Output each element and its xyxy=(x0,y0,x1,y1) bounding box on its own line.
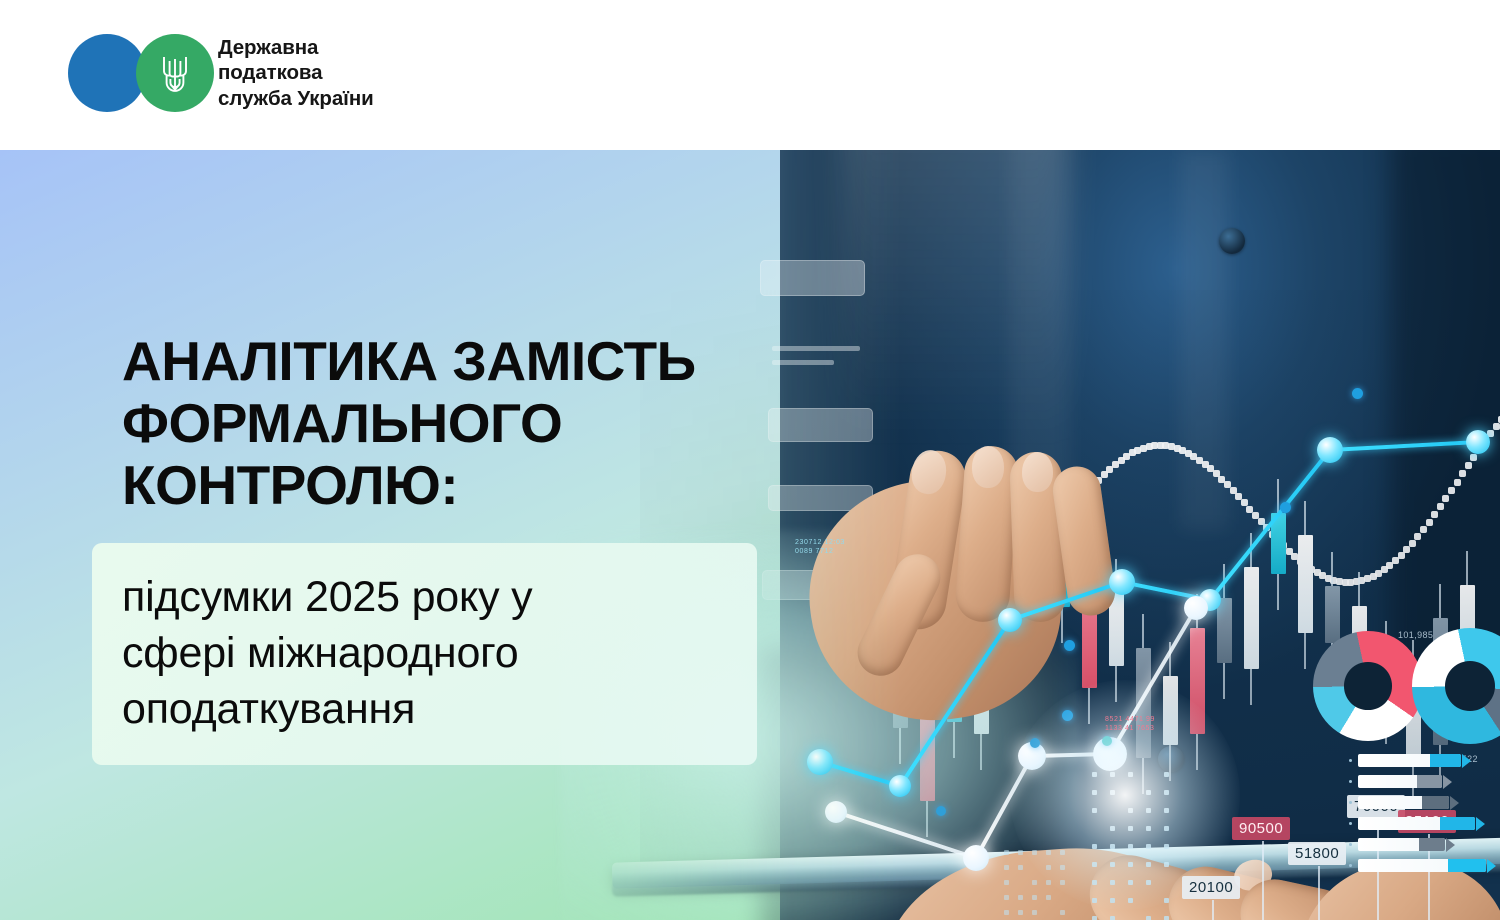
bar-fill xyxy=(1422,796,1449,809)
matrix-dot xyxy=(1018,895,1023,900)
line-node xyxy=(889,775,911,797)
bar-arrow xyxy=(1487,859,1496,873)
tiny-data-text: 8521 4471 99 1133 41 7653 xyxy=(1105,715,1155,733)
logo[interactable]: Державна податкова служба України xyxy=(68,34,374,112)
matrix-dot xyxy=(1046,895,1051,900)
matrix-dot xyxy=(1004,880,1009,885)
bar-bullet xyxy=(1349,801,1352,804)
matrix-dot xyxy=(1018,910,1023,915)
bar-bullet xyxy=(1349,843,1352,846)
tiny-data-text: 230712 12:03 0089 7712 xyxy=(795,538,845,556)
value-stem xyxy=(1212,900,1214,920)
line-node xyxy=(807,749,833,775)
line-node-small xyxy=(936,806,946,816)
value-label: 20100 xyxy=(1182,876,1240,899)
bar-arrow xyxy=(1446,838,1455,852)
matrix-dot xyxy=(1018,865,1023,870)
matrix-dot xyxy=(1032,880,1037,885)
photo-content: 2010090500518007000085100 101,98599,522 … xyxy=(0,150,1500,920)
value-stem xyxy=(1262,841,1264,920)
poster-root: 2010090500518007000085100 101,98599,522 … xyxy=(0,0,1500,920)
line-node xyxy=(1109,569,1135,595)
matrix-dot xyxy=(1004,910,1009,915)
value-label: 51800 xyxy=(1288,842,1346,865)
matrix-dot xyxy=(1164,916,1169,920)
line-node xyxy=(825,801,847,823)
donut-annotation: 101,985 xyxy=(1398,630,1433,640)
matrix-dot xyxy=(1032,895,1037,900)
line-node-small xyxy=(1352,388,1363,399)
bar-fill xyxy=(1448,859,1487,872)
fingernail xyxy=(1022,452,1053,492)
line-node xyxy=(1317,437,1343,463)
value-label: 90500 xyxy=(1232,817,1290,840)
bar-arrow xyxy=(1450,796,1459,810)
matrix-dot xyxy=(1004,850,1009,855)
matrix-dot xyxy=(1146,916,1151,920)
bar-bullet xyxy=(1349,759,1352,762)
bar-bullet xyxy=(1349,780,1352,783)
bar-fill xyxy=(1417,775,1442,788)
logo-text: Державна податкова служба України xyxy=(218,35,374,112)
bar-arrow xyxy=(1462,754,1471,768)
value-stem xyxy=(1318,866,1320,920)
donut-hole xyxy=(1445,661,1495,711)
line-node-small xyxy=(1064,640,1075,651)
matrix-dot xyxy=(1110,916,1115,920)
bar-arrow xyxy=(1443,775,1452,789)
donut-hole xyxy=(1344,662,1391,709)
subtitle-text: підсумки 2025 року у сфері міжнародного … xyxy=(92,570,562,738)
bar-fill xyxy=(1419,838,1445,851)
line-node xyxy=(1466,430,1490,454)
subtitle-panel: підсумки 2025 року у сфері міжнародного … xyxy=(92,543,757,765)
bar-fill xyxy=(1430,754,1461,767)
matrix-dot xyxy=(1032,910,1037,915)
bar-bullet xyxy=(1349,822,1352,825)
blue-circle-icon xyxy=(68,34,146,112)
logo-mark xyxy=(68,34,208,112)
line-node xyxy=(963,845,989,871)
line-node-small xyxy=(1280,502,1291,513)
hero-photo: 2010090500518007000085100 101,98599,522 … xyxy=(0,150,1500,920)
matrix-dot xyxy=(1004,895,1009,900)
matrix-dot xyxy=(1092,916,1097,920)
line-node xyxy=(1184,596,1208,620)
bar-arrow xyxy=(1476,817,1485,831)
ukraine-trident-icon xyxy=(136,34,214,112)
matrix-dot xyxy=(1060,910,1065,915)
bar-fill xyxy=(1440,817,1475,830)
page-title: АНАЛІТИКА ЗАМІСТЬ ФОРМАЛЬНОГО КОНТРОЛЮ: xyxy=(122,331,852,517)
matrix-dot xyxy=(1018,850,1023,855)
matrix-dot xyxy=(1004,865,1009,870)
line-node xyxy=(998,608,1022,632)
fingernail xyxy=(972,446,1004,488)
site-header: Державна податкова служба України xyxy=(0,0,1500,150)
bar-bullet xyxy=(1349,864,1352,867)
shirt-button xyxy=(1219,228,1245,254)
